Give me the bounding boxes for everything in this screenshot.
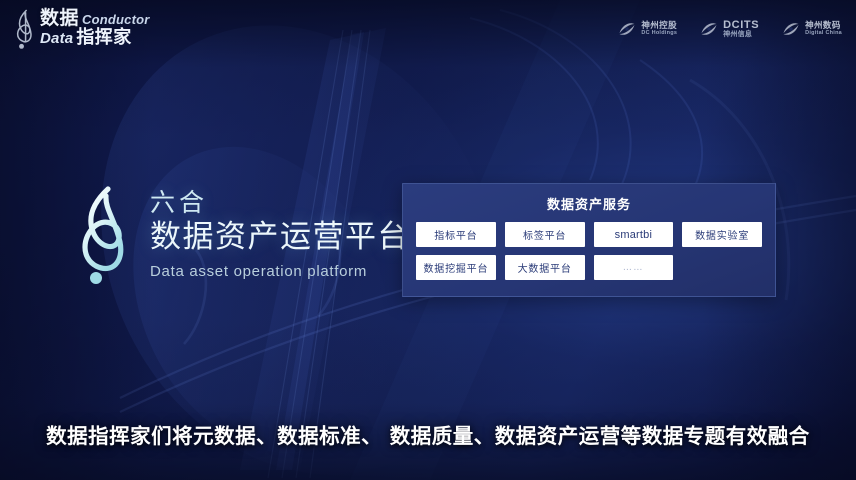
- header-bar: 数据 Conductor Data 指挥家 神州控股 DC Holding: [0, 0, 856, 58]
- service-card-grid: 指标平台 标签平台 smartbi 数据实验室 数据挖掘平台 大数据平台 ……: [403, 222, 775, 280]
- brand-en-primary: Conductor: [82, 13, 150, 26]
- partner-logos: 神州控股 DC Holdings DCITS 神州信息: [617, 19, 842, 39]
- swirl-logo-icon: [617, 19, 637, 39]
- brand-wordmark: 数据 Conductor Data 指挥家: [40, 9, 150, 49]
- hero-title-liuhe: 六合: [150, 188, 410, 218]
- brand-cn-secondary: 指挥家: [76, 29, 132, 47]
- service-card-more[interactable]: ……: [594, 255, 674, 280]
- data-asset-services-panel: 数据资产服务 指标平台 标签平台 smartbi 数据实验室 数据挖掘平台 大数…: [402, 183, 776, 297]
- service-card-data-mining-platform[interactable]: 数据挖掘平台: [416, 255, 496, 280]
- partner-logo-dcits: DCITS 神州信息: [699, 19, 759, 39]
- swirl-logo-icon: [781, 19, 801, 39]
- hero-title-platform: 数据资产运营平台: [150, 219, 410, 257]
- partner-en-name: Digital China: [805, 31, 842, 37]
- slide-root: 数据 Conductor Data 指挥家 神州控股 DC Holding: [0, 0, 856, 480]
- brand-line-1: 数据 Conductor: [40, 9, 150, 28]
- partner-name-block: 神州控股 DC Holdings: [641, 22, 677, 37]
- brand-logo: 数据 Conductor Data 指挥家: [12, 7, 150, 51]
- partner-en-name: DC Holdings: [641, 31, 677, 37]
- hero-text-block: 六合 数据资产运营平台 Data asset operation platfor…: [150, 188, 410, 279]
- partner-logo-digital-china: 神州数码 Digital China: [781, 19, 842, 39]
- partner-logo-dc-holdings: 神州控股 DC Holdings: [617, 19, 677, 39]
- partner-name-block: DCITS 神州信息: [723, 20, 759, 39]
- hero-subtitle-en: Data asset operation platform: [150, 263, 410, 280]
- brand-en-secondary: Data: [40, 31, 73, 46]
- swirl-logo-icon: [699, 19, 719, 39]
- panel-title: 数据资产服务: [403, 194, 775, 213]
- service-card-tag-platform[interactable]: 标签平台: [505, 222, 585, 247]
- service-card-smartbi[interactable]: smartbi: [594, 222, 674, 247]
- partner-name-block: 神州数码 Digital China: [805, 22, 842, 37]
- service-card-indicator-platform[interactable]: 指标平台: [416, 222, 496, 247]
- service-card-big-data-platform[interactable]: 大数据平台: [505, 255, 585, 280]
- treble-clef-icon: [12, 7, 38, 51]
- brand-cn-primary: 数据: [40, 9, 79, 28]
- hero-block: 六合 数据资产运营平台 Data asset operation platfor…: [74, 182, 410, 286]
- brand-line-2: Data 指挥家: [40, 29, 150, 47]
- service-card-data-lab[interactable]: 数据实验室: [682, 222, 762, 247]
- treble-clef-icon: [74, 182, 136, 286]
- partner-en-name: 神州信息: [723, 31, 759, 38]
- bottom-caption: 数据指挥家们将元数据、数据标准、 数据质量、数据资产运营等数据专题有效融合: [0, 419, 856, 449]
